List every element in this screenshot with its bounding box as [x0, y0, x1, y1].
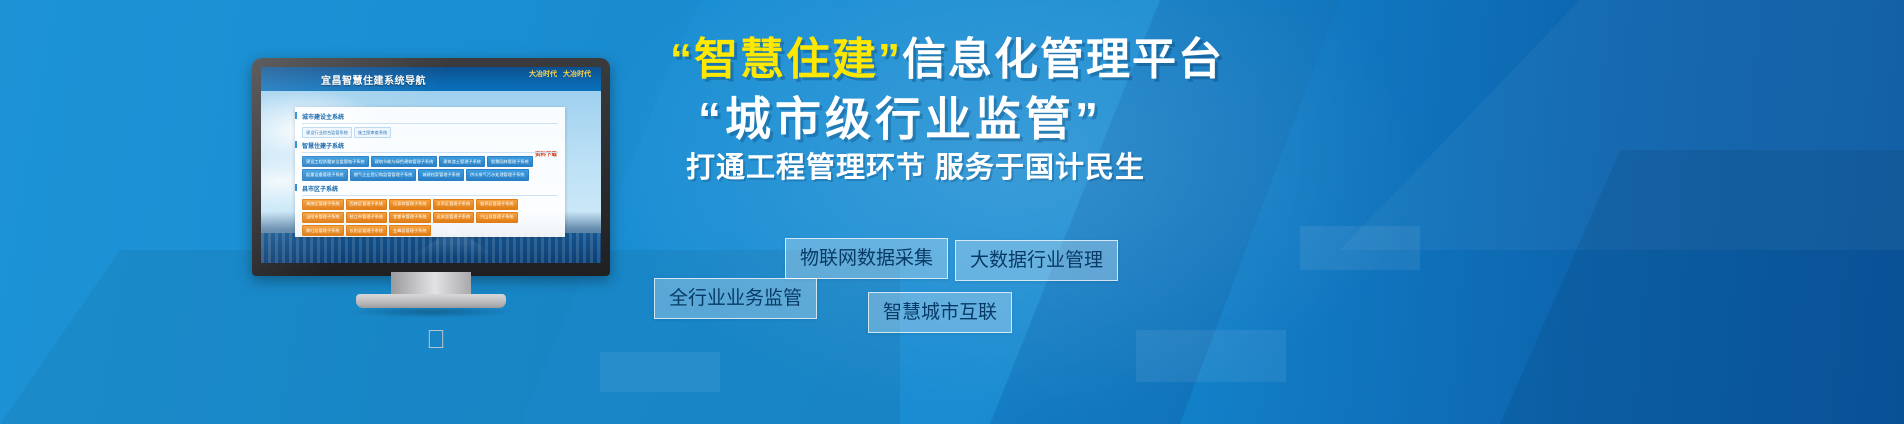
nav-pill[interactable]: 起重设备管理子系统	[302, 169, 348, 180]
section-items-district: 夷陵区管理子系统 西陵区管理子系统 伍家岗管理子系统 点军区管理子系统 猇亭区管…	[302, 199, 558, 237]
nav-pill[interactable]: 建筑节能与绿色建筑管理子系统	[371, 156, 438, 167]
bg-ghost-rect-1	[1136, 330, 1286, 382]
monitor-mockup: 宜昌智慧住建系统导航 大冶时代 大冶时代 资料下载 城市建设主系统	[252, 58, 610, 306]
tag-chip-bigdata[interactable]: 大数据行业管理	[955, 240, 1118, 281]
nav-pill[interactable]: 远安县管理子系统	[433, 212, 475, 223]
nav-pill[interactable]: 城建档案管理子系统	[418, 169, 464, 180]
portal-section-district: 县市区子系统 夷陵区管理子系统 西陵区管理子系统 伍家岗管理子系统 点军区管理子…	[302, 184, 558, 237]
portal-section-sub: 智慧住建子系统 建设工程质量安全监管电子系统 建筑节能与绿色建筑管理子系统 建筑…	[302, 141, 558, 180]
nav-pill[interactable]: 宜都市管理子系统	[389, 212, 431, 223]
portal-nav-panel: 资料下载 城市建设主系统 建设行业综合监管系统 施工图审查系统 智慧住建子系统 …	[295, 107, 565, 237]
monitor-bezel: 宜昌智慧住建系统导航 大冶时代 大冶时代 资料下载 城市建设主系统	[252, 58, 610, 276]
bg-ghost-rect-2	[1300, 226, 1420, 270]
nav-pill[interactable]: 点军区管理子系统	[433, 199, 475, 210]
headline-block: “智慧住建”信息化管理平台 “城市级行业监管” 打通工程管理环节 服务于国计民生	[650, 38, 1470, 183]
nav-pill[interactable]: 燃气企业登记和监管管理子系统	[350, 169, 417, 180]
portal-header: 宜昌智慧住建系统导航 大冶时代 大冶时代	[261, 67, 601, 91]
nav-pill[interactable]: 枝江市管理子系统	[346, 212, 388, 223]
nav-pill[interactable]: 伍家岗管理子系统	[389, 199, 431, 210]
section-title-district: 县市区子系统	[302, 184, 558, 196]
nav-pill[interactable]: 夷陵区管理子系统	[302, 199, 344, 210]
headline-primary: “智慧住建”信息化管理平台	[670, 38, 1470, 82]
section-items-main: 建设行业综合监管系统 施工图审查系统	[302, 127, 558, 138]
headline-primary-quoted: “智慧住建”	[670, 35, 902, 84]
nav-pill[interactable]: 建设工程质量安全监管电子系统	[302, 156, 369, 167]
apple-logo-icon: 	[424, 326, 448, 354]
nav-pill[interactable]: 五峰县管理子系统	[389, 225, 431, 236]
headline-secondary: “城市级行业监管”	[698, 96, 1470, 142]
nav-pill[interactable]: 当阳市管理子系统	[302, 212, 344, 223]
nav-pill[interactable]: 秭归县管理子系统	[302, 225, 344, 236]
nav-pill[interactable]: 智慧园林管理子系统	[487, 156, 533, 167]
portal-section-main: 城市建设主系统 建设行业综合监管系统 施工图审查系统	[302, 112, 558, 138]
section-items-sub: 建设工程质量安全监管电子系统 建筑节能与绿色建筑管理子系统 建筑渣土管理子系统 …	[302, 156, 558, 180]
monitor-stand-neck	[391, 272, 471, 296]
nav-pill[interactable]: 供水排气污水处理管理子系统	[466, 169, 528, 180]
promo-banner: 宜昌智慧住建系统导航 大冶时代 大冶时代 资料下载 城市建设主系统	[0, 0, 1904, 424]
portal-logo-primary: 大冶时代	[529, 71, 557, 78]
tag-chip-business-supervision[interactable]: 全行业业务监管	[654, 278, 817, 319]
nav-pill[interactable]: 建设行业综合监管系统	[302, 127, 352, 138]
tag-chip-smart-city[interactable]: 智慧城市互联	[868, 292, 1012, 333]
portal-logo-secondary: 大冶时代	[563, 71, 591, 78]
nav-pill[interactable]: 建筑渣土管理子系统	[439, 156, 485, 167]
nav-pill[interactable]: 兴山县管理子系统	[476, 212, 518, 223]
headline-tagline: 打通工程管理环节 服务于国计民生	[686, 154, 1470, 183]
portal-site-title: 宜昌智慧住建系统导航	[321, 72, 426, 87]
nav-pill[interactable]: 长阳县管理子系统	[346, 225, 388, 236]
section-title-sub: 智慧住建子系统	[302, 141, 558, 153]
tag-chip-iot[interactable]: 物联网数据采集	[785, 238, 948, 279]
portal-logo: 大冶时代 大冶时代	[529, 71, 591, 78]
nav-pill[interactable]: 西陵区管理子系统	[346, 199, 388, 210]
bg-ghost-rect-3	[600, 352, 720, 392]
monitor-stand-foot	[356, 294, 506, 308]
headline-primary-rest: 信息化管理平台	[902, 35, 1224, 84]
bg-facet-shadow-right	[1500, 150, 1904, 424]
nav-pill[interactable]: 猇亭区管理子系统	[476, 199, 518, 210]
section-title-main: 城市建设主系统	[302, 112, 558, 124]
nav-pill[interactable]: 施工图审查系统	[354, 127, 391, 138]
monitor-screen: 宜昌智慧住建系统导航 大冶时代 大冶时代 资料下载 城市建设主系统	[261, 67, 601, 263]
